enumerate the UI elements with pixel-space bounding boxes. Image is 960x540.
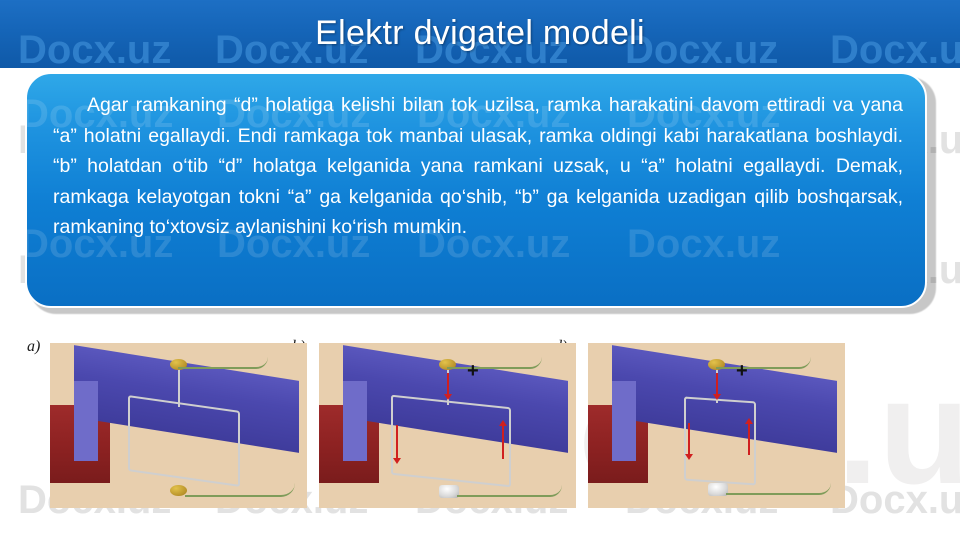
current-arrow-axle <box>716 373 718 395</box>
bottom-spacer <box>0 520 960 540</box>
plus-terminal-label: + <box>736 361 748 381</box>
figure-d-motor-diagram: + <box>588 343 845 508</box>
current-arrow-right <box>502 425 504 459</box>
magnet-blue-side <box>343 381 367 461</box>
figure-b-motor-diagram: + <box>319 343 576 508</box>
green-lead-wire <box>447 357 542 369</box>
frame-axle <box>178 365 180 407</box>
callout-paragraph: Agar ramkaning “d” holatiga kelishi bila… <box>53 90 903 243</box>
current-arrow-right <box>748 423 750 455</box>
callout-box: Docx.uz Docx.uz Docx.uz Docx.uz Docx.uz … <box>25 72 927 308</box>
green-lead-wire <box>178 357 268 369</box>
green-lead-wire-bottom <box>726 483 831 495</box>
green-lead-wire-bottom <box>185 483 295 497</box>
current-arrow-left <box>688 423 690 455</box>
green-lead-wire <box>716 357 811 369</box>
figure-label-a: a) <box>27 338 40 356</box>
current-arrow-left <box>396 425 398 459</box>
brush-contact <box>439 485 459 498</box>
page-title: Elektr dvigatel modeli <box>0 14 960 53</box>
plus-terminal-label: + <box>467 361 479 381</box>
current-arrow-axle <box>447 373 449 395</box>
brush-contact <box>708 483 728 496</box>
green-lead-wire-bottom <box>457 485 562 497</box>
figure-a-motor-diagram <box>50 343 307 508</box>
rotating-frame <box>391 395 511 488</box>
figure-strip: a) b) d) + <box>0 330 960 520</box>
rotating-frame <box>128 395 240 487</box>
magnet-blue-side <box>74 381 98 461</box>
magnet-blue-side <box>612 381 636 461</box>
rotating-frame <box>684 396 756 485</box>
